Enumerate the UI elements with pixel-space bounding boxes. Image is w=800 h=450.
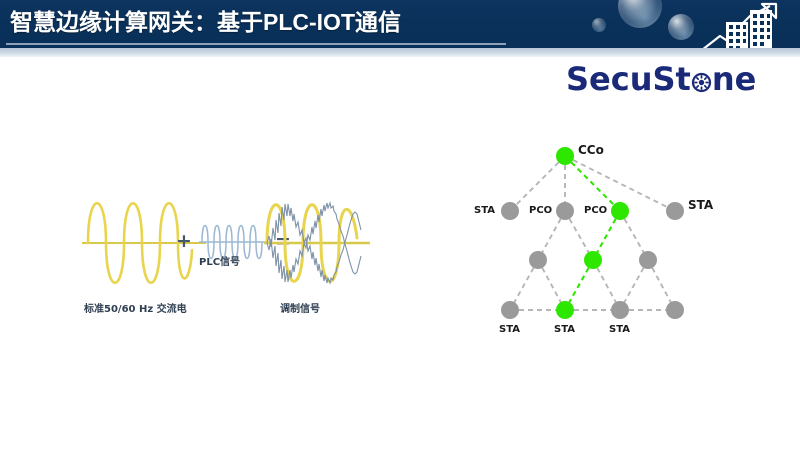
slide-header: 智慧边缘计算网关：基于PLC-IOT通信 — [0, 0, 800, 48]
topology-node-unlabeled[interactable] — [639, 251, 657, 269]
plc-wave-caption: PLC信号 — [199, 253, 240, 268]
logo-text-before: SecuSt — [566, 63, 691, 95]
topology-node-label: STA — [554, 324, 575, 335]
network-topology-diagram: CCoSTAPCOPCOSTASTASTASTA — [480, 138, 765, 353]
topology-edges — [480, 138, 765, 353]
topology-node-sta[interactable] — [556, 301, 574, 319]
bubble-icon — [592, 18, 606, 32]
topology-node-label: PCO — [529, 205, 552, 216]
bubble-icon — [668, 14, 694, 40]
title-underline — [6, 43, 506, 45]
topology-node-label: CCo — [578, 143, 604, 157]
topology-node-label: PCO — [584, 205, 607, 216]
plus-sign: + — [176, 230, 192, 252]
logo-text-after: ne — [712, 63, 756, 95]
topology-node-label: STA — [499, 324, 520, 335]
topology-node-label: STA — [609, 324, 630, 335]
bubble-icon — [618, 0, 662, 28]
modulated-wave-icon — [262, 180, 372, 300]
topology-node-unlabeled[interactable] — [529, 251, 547, 269]
topology-node-pco[interactable] — [611, 202, 629, 220]
header-gradient-strip — [0, 48, 800, 57]
topology-node-label: STA — [688, 198, 713, 212]
topology-node-sta[interactable] — [666, 202, 684, 220]
modulated-wave-caption: 调制信号 — [280, 300, 320, 315]
slide-canvas: 智慧边缘计算网关：基于PLC-IOT通信 SecuSt ne — [0, 0, 800, 450]
page-title: 智慧边缘计算网关：基于PLC-IOT通信 — [10, 5, 401, 39]
topology-node-unlabeled[interactable] — [584, 251, 602, 269]
topology-edge — [510, 156, 565, 211]
gear-o-icon — [691, 72, 712, 93]
topology-node-sta[interactable] — [501, 202, 519, 220]
brand-logo: SecuSt ne — [566, 60, 756, 98]
topology-node-unlabeled[interactable] — [666, 301, 684, 319]
topology-node-label: STA — [474, 205, 495, 216]
building-growth-arrow-icon — [700, 2, 792, 48]
topology-node-cco[interactable] — [556, 147, 574, 165]
topology-node-sta[interactable] — [611, 301, 629, 319]
plc-modulation-diagram: 标准50/60 Hz 交流电 + PLC信号 = 调制信号 — [80, 178, 380, 333]
topology-edge — [565, 156, 620, 211]
ac-wave-caption: 标准50/60 Hz 交流电 — [84, 300, 187, 315]
topology-node-pco[interactable] — [556, 202, 574, 220]
topology-node-sta[interactable] — [501, 301, 519, 319]
